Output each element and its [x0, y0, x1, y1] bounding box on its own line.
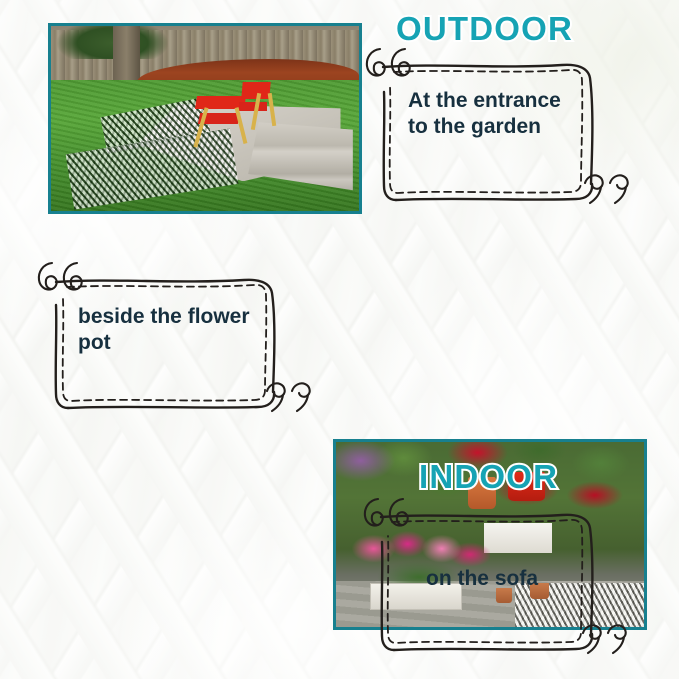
quote-flower-pot-line-2: pot	[78, 330, 278, 356]
quote-sofa: on the sofa	[378, 508, 618, 653]
quote-flower-pot-text: beside the flower pot	[78, 304, 278, 355]
backyard-patio-photo	[48, 23, 362, 214]
quote-entrance-line-2: to the garden	[408, 114, 608, 140]
quote-flower-pot: beside the flower pot	[52, 272, 302, 412]
close-quote-icon	[578, 170, 634, 206]
open-quote-icon	[364, 46, 420, 80]
quote-sofa-line-1: on the sofa	[426, 566, 606, 592]
quote-entrance: At the entrance to the garden	[380, 58, 618, 203]
close-quote-icon	[260, 378, 316, 414]
quote-flower-pot-line-1: beside the flower	[78, 304, 278, 330]
section-heading-outdoor: OUTDOOR	[396, 10, 573, 48]
close-quote-icon	[576, 620, 632, 656]
infographic-canvas: OUTDOOR At the entrance to the garden	[0, 0, 679, 679]
open-quote-icon	[362, 496, 418, 530]
quote-entrance-text: At the entrance to the garden	[408, 88, 608, 139]
section-heading-indoor: INDOOR	[419, 458, 558, 496]
open-quote-icon	[36, 260, 92, 294]
quote-entrance-line-1: At the entrance	[408, 88, 608, 114]
quote-sofa-text: on the sofa	[426, 566, 606, 592]
